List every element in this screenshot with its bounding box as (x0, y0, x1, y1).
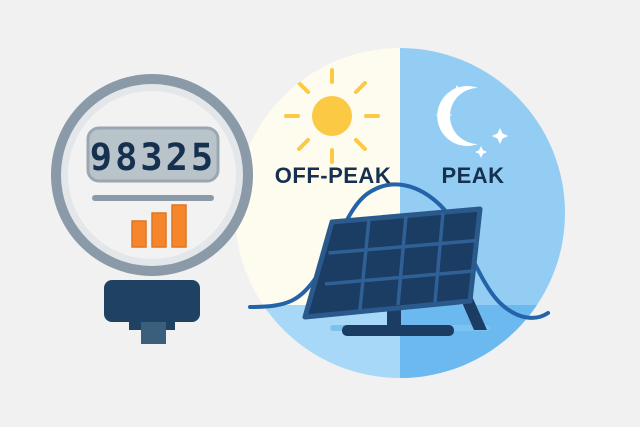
scene-svg: 98325 OFF-PEAK PEAK (0, 0, 640, 427)
meter-base-foot (141, 322, 166, 344)
signal-bar-2 (152, 213, 166, 247)
signal-bar-1 (132, 221, 146, 247)
illustration-canvas: 98325 OFF-PEAK PEAK (0, 0, 640, 427)
meter-reading: 98325 (90, 136, 216, 179)
off-peak-label: OFF-PEAK (275, 163, 391, 188)
panel-board (305, 209, 480, 317)
signal-bar-3 (172, 205, 186, 247)
sun-icon (286, 70, 378, 162)
peak-label: PEAK (441, 163, 504, 188)
meter-divider-line (92, 195, 214, 201)
panel-foot (342, 325, 454, 336)
